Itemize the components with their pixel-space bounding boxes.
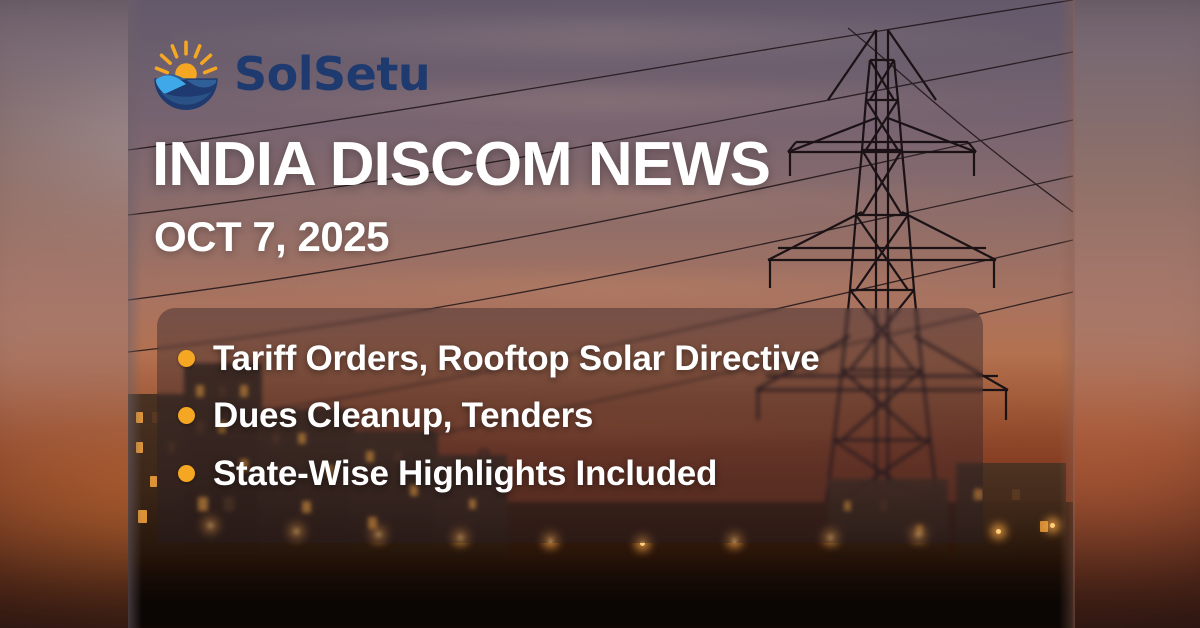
list-item-label: Tariff Orders, Rooftop Solar Directive [213,338,819,379]
list-item-label: Dues Cleanup, Tenders [213,395,593,436]
highlights-list: Tariff Orders, Rooftop Solar Directive D… [178,338,978,510]
content-overlay: SolSetu INDIA DISCOM NEWS OCT 7, 2025 Ta… [0,0,1200,628]
list-item: State-Wise Highlights Included [178,453,978,494]
bullet-dot-icon [178,465,195,482]
sun-over-water-icon [150,38,222,110]
list-item: Dues Cleanup, Tenders [178,395,978,436]
date-line: OCT 7, 2025 [154,216,389,258]
brand-name: SolSetu [234,51,430,97]
page-title: INDIA DISCOM NEWS [152,133,770,196]
bullet-dot-icon [178,407,195,424]
list-item: Tariff Orders, Rooftop Solar Directive [178,338,978,379]
news-card: SolSetu INDIA DISCOM NEWS OCT 7, 2025 Ta… [0,0,1200,628]
bullet-dot-icon [178,350,195,367]
brand-logo[interactable]: SolSetu [150,38,430,110]
list-item-label: State-Wise Highlights Included [213,453,717,494]
